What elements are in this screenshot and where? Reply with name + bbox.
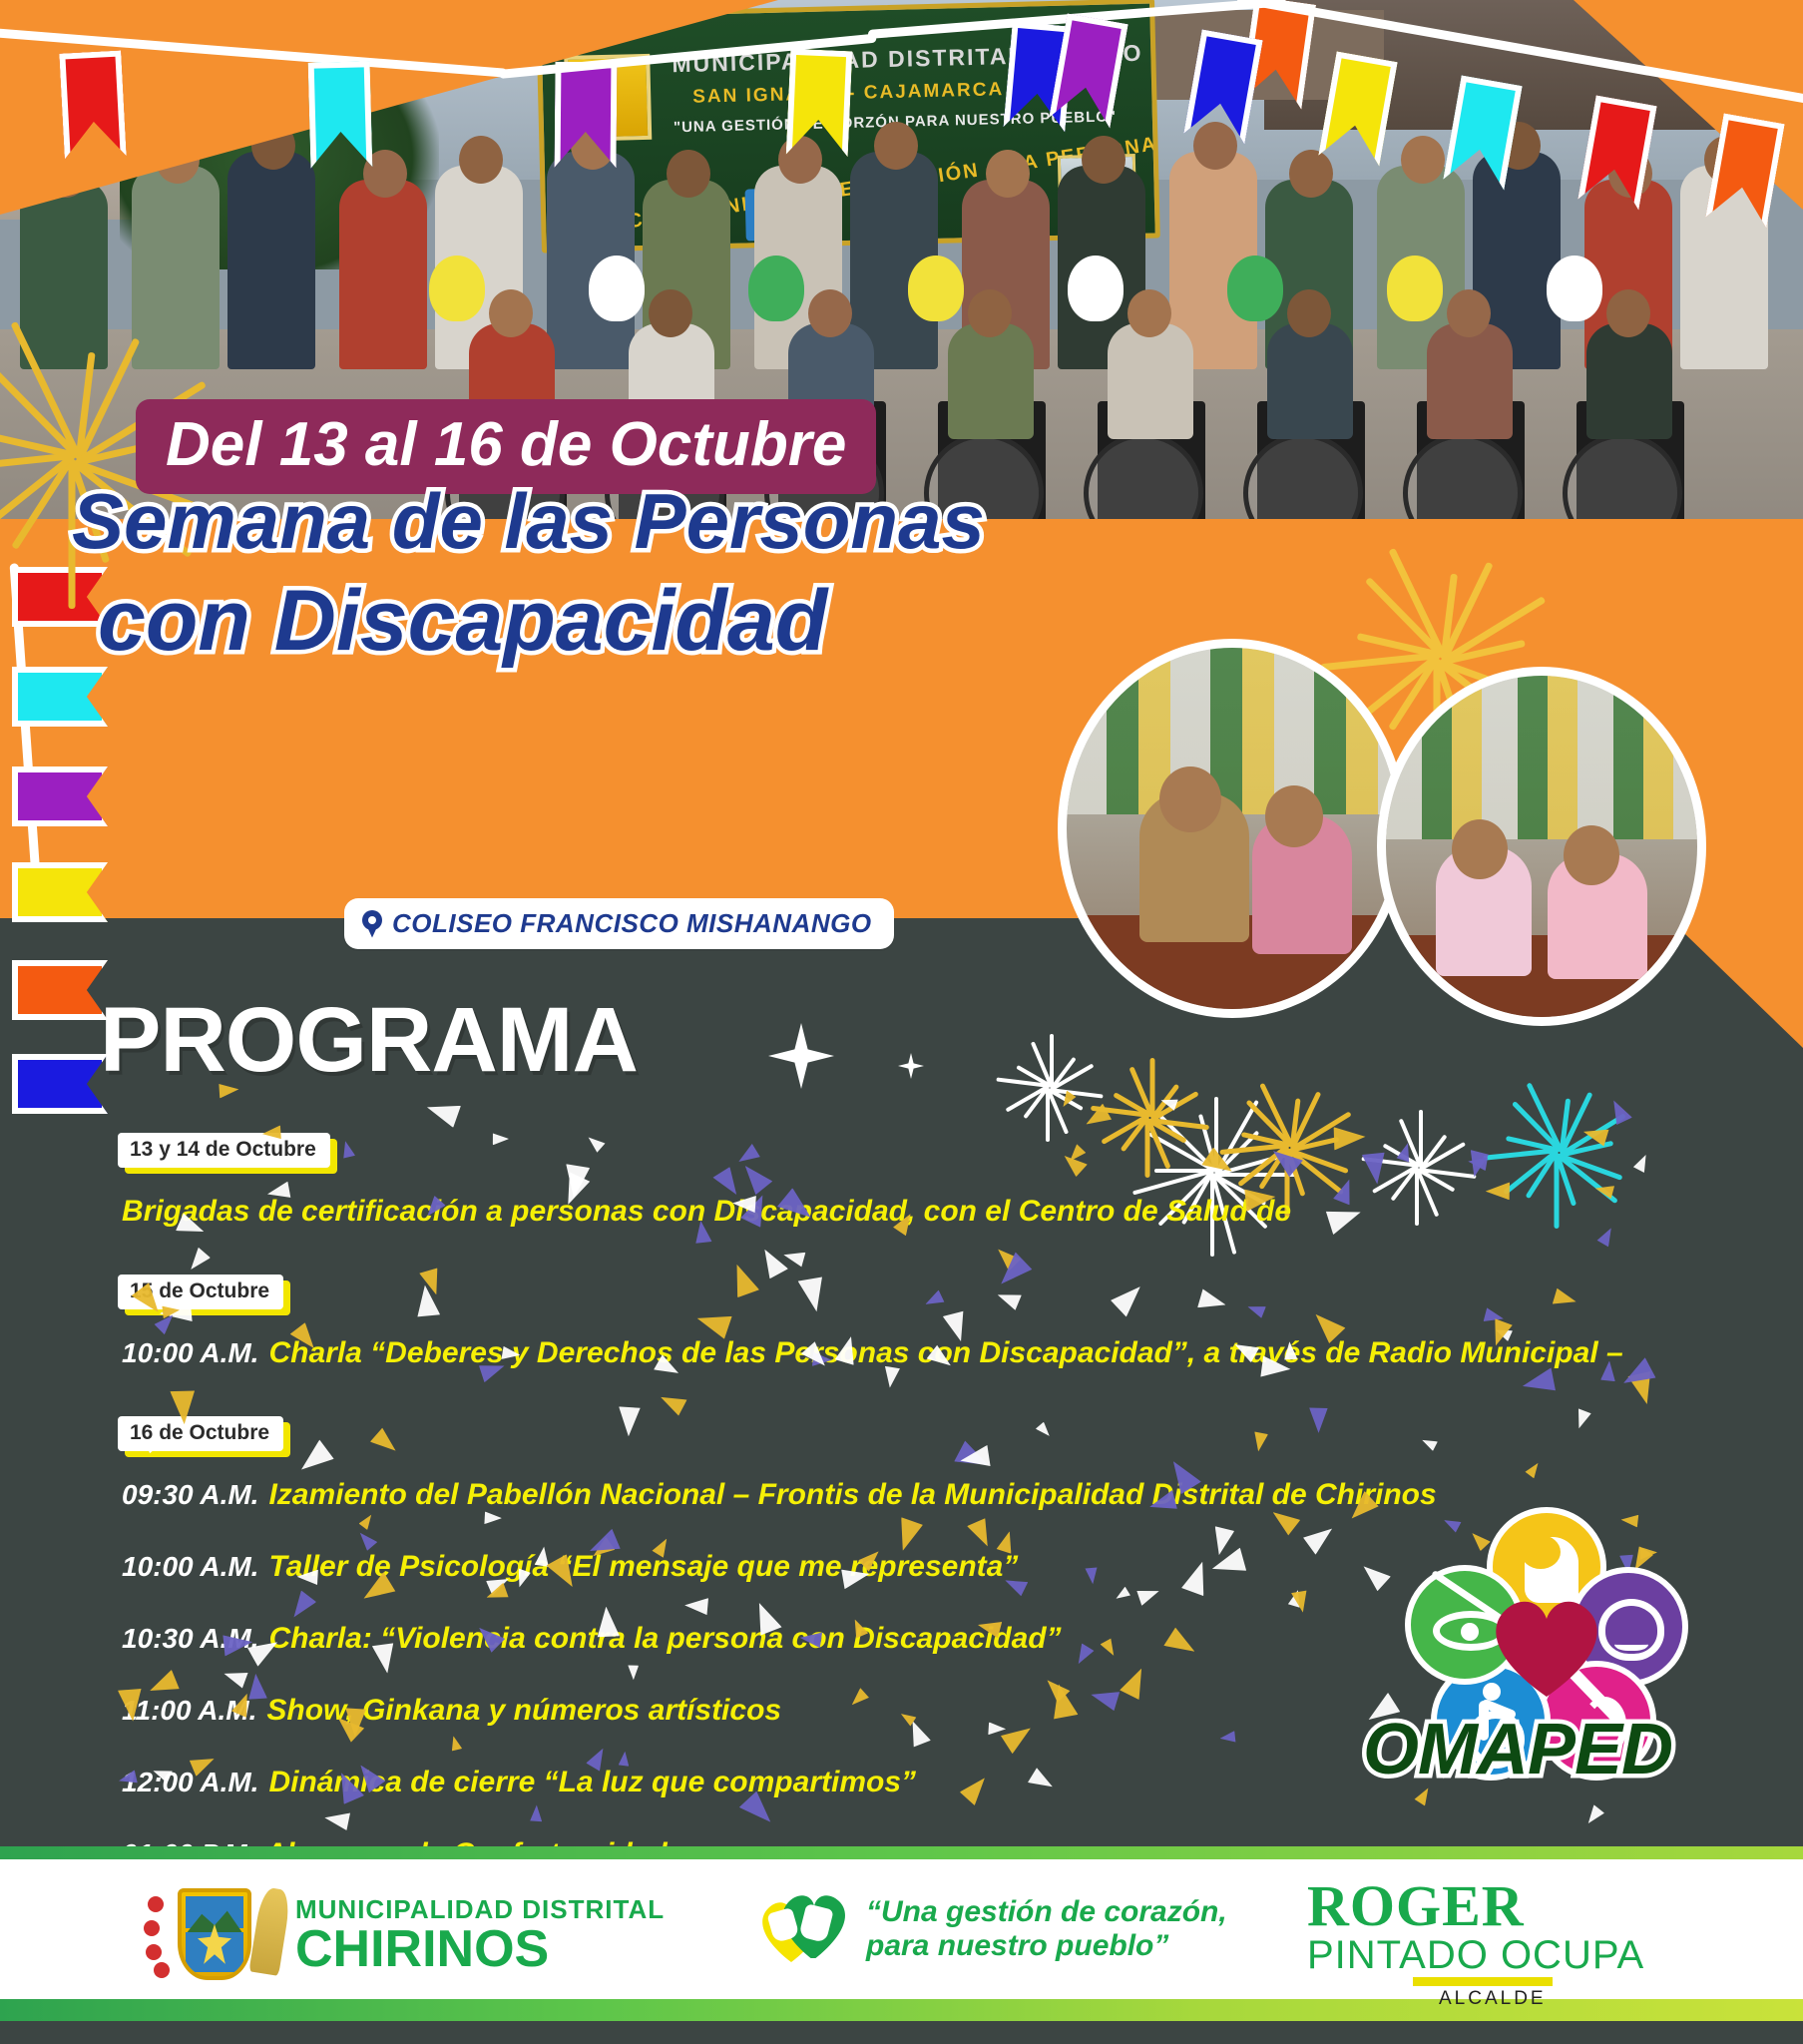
sparkle-icon [898, 1053, 924, 1079]
page-title-line2: con Discapacidad [98, 577, 996, 666]
program-item-time: 12:00 A.M. [122, 1767, 258, 1798]
bunting-flag [12, 667, 108, 727]
confetti-piece [737, 1144, 763, 1171]
confetti-piece [996, 1291, 1022, 1310]
confetti-piece [628, 1663, 642, 1681]
bunting-flag [12, 766, 108, 826]
poster-root: MUNICIPALIDAD DISTRITAL CHIRINOS SAN IGN… [0, 0, 1803, 2044]
balloon [429, 255, 485, 321]
confetti-piece [1197, 1288, 1226, 1307]
mayor-first-name: ROGER [1307, 1878, 1644, 1935]
confetti-piece [901, 1719, 931, 1751]
confetti-piece [722, 1263, 760, 1302]
mayor-underline [1413, 1977, 1553, 1986]
program-item-time: 10:00 A.M. [122, 1337, 258, 1369]
wreath-icon [142, 1894, 176, 1974]
confetti-piece [189, 1247, 213, 1275]
program-item-description: Brigadas de certificación a personas con… [122, 1195, 1291, 1229]
balloon [1068, 255, 1124, 321]
page-title-line1: Semana de las Personas [72, 481, 970, 562]
person-head [156, 136, 200, 184]
program-item-time: 09:30 A.M. [122, 1479, 258, 1511]
wheat-icon [248, 1886, 291, 1976]
confetti-piece [1577, 1409, 1591, 1430]
confetti-piece [997, 1717, 1034, 1754]
confetti-piece [798, 1272, 835, 1313]
confetti-piece [1115, 1587, 1132, 1605]
program-item: 09:30 A.M.Izamiento del Pabellón Naciona… [122, 1478, 1437, 1512]
bunting-flag [12, 960, 108, 1020]
bunting-flag [12, 1054, 108, 1114]
confetti-piece [784, 1253, 806, 1268]
sparkle-icon [768, 1023, 834, 1089]
slogan-line1: “Una gestión de corazón, [866, 1895, 1227, 1929]
confetti-piece [1254, 1430, 1269, 1451]
person-head [778, 136, 822, 184]
heart-hands-icon [756, 1884, 852, 1974]
confetti-piece [1215, 1526, 1235, 1555]
confetti-piece [924, 1289, 947, 1311]
person-head [874, 122, 918, 170]
person-head [459, 136, 503, 184]
program-item-time: 10:00 A.M. [122, 1551, 258, 1583]
confetti-piece [1086, 1564, 1103, 1584]
bunting-flag [12, 862, 108, 922]
confetti-piece [337, 1140, 355, 1161]
confetti-piece [1553, 1287, 1577, 1303]
confetti-piece [224, 1671, 248, 1689]
program-item: 12:00 A.M.Dinámica de cierre “La luz que… [122, 1766, 916, 1799]
omaped-logo: OMAPED [1387, 1507, 1706, 1787]
person-head [1287, 289, 1331, 337]
confetti-piece [585, 1136, 606, 1155]
confetti-piece [1028, 1767, 1057, 1789]
confetti-piece [1524, 1460, 1540, 1479]
confetti-piece [1421, 1439, 1438, 1452]
seated-person [1427, 323, 1513, 439]
confetti-piece [1163, 1626, 1199, 1655]
confetti-piece [1219, 1732, 1238, 1748]
municipality-line2: CHIRINOS [295, 1925, 665, 1974]
confetti-piece [527, 1804, 542, 1823]
wheelchair-wheel [1563, 433, 1682, 553]
person-head [1401, 136, 1445, 184]
confetti-piece [1309, 1404, 1333, 1434]
confetti-piece [1209, 1548, 1251, 1586]
confetti-piece [1101, 1636, 1122, 1657]
venue-badge: COLISEO FRANCISCO MISHANANGO [344, 898, 894, 949]
confetti-piece [958, 1772, 989, 1806]
person-head [1193, 122, 1237, 170]
municipality-logo: MUNICIPALIDAD DISTRITAL CHIRINOS [178, 1888, 665, 1980]
program-item: Brigadas de certificación a personas con… [122, 1195, 1291, 1229]
confetti-piece [1041, 1683, 1078, 1726]
confetti-piece [850, 1688, 871, 1711]
confetti-piece [1267, 1509, 1300, 1537]
person-head [1082, 136, 1126, 184]
program-item: 11:00 A.M.Show, Ginkana y números artíst… [122, 1694, 781, 1728]
venue-label: COLISEO FRANCISCO MISHANANGO [392, 908, 872, 939]
balloon [589, 255, 645, 321]
mayor-last-name: PINTADO OCUPA [1307, 1935, 1644, 1975]
balloon [908, 255, 964, 321]
confetti-piece [1036, 1420, 1055, 1437]
person-head [1606, 289, 1650, 337]
confetti-piece [1180, 1560, 1206, 1596]
confetti-piece [1485, 1183, 1514, 1206]
balloon [1387, 255, 1443, 321]
circle-photo-1 [1058, 639, 1407, 1018]
wheelchair-wheel [1403, 433, 1523, 553]
confetti-piece [1632, 1153, 1647, 1173]
program-item-description: Izamiento del Pabellón Nacional – Fronti… [268, 1478, 1436, 1512]
mayor-role: ALCALDE [1439, 1988, 1644, 2010]
bunting-flag [12, 567, 108, 627]
confetti-piece [753, 1247, 789, 1282]
balloon [748, 255, 804, 321]
program-day-badge: 13 y 14 de Octubre [118, 1133, 330, 1168]
program-item: 10:00 A.M.Charla “Deberes y Derechos de … [122, 1336, 1623, 1370]
balloon [1227, 255, 1283, 321]
confetti-piece [1586, 1804, 1606, 1827]
person-head [251, 122, 295, 170]
confetti-piece [1108, 1277, 1143, 1316]
confetti-piece [298, 1440, 338, 1482]
confetti-piece [324, 1813, 351, 1832]
circle-photo-2 [1377, 667, 1706, 1026]
person-head [667, 150, 710, 198]
confetti-piece [370, 1426, 402, 1454]
confetti-piece [684, 1598, 711, 1619]
page-section-title: PROGRAMA [100, 988, 638, 1093]
confetti-piece [658, 1394, 686, 1417]
person [339, 180, 427, 369]
person-head [1127, 289, 1171, 337]
confetti-piece [620, 1402, 647, 1437]
confetti-piece [1332, 1178, 1352, 1205]
seated-person [1108, 323, 1193, 439]
slogan-line2: para nuestro pueblo” [866, 1929, 1227, 1963]
confetti-piece [446, 1735, 462, 1753]
confetti-piece [1300, 1518, 1335, 1555]
seated-person [1267, 323, 1353, 439]
confetti-piece [1133, 1580, 1160, 1605]
person-head [489, 289, 533, 337]
location-pin-icon [362, 910, 382, 938]
slogan-logo: “Una gestión de corazón, para nuestro pu… [756, 1884, 1227, 1974]
confetti-piece [1595, 1226, 1612, 1248]
chirinos-crest-icon [178, 1888, 251, 1980]
confetti-piece [291, 1591, 319, 1624]
confetti-piece [426, 1103, 461, 1128]
wheelchair-wheel [1084, 433, 1203, 553]
person-head [986, 150, 1030, 198]
program-item-description: Charla “Deberes y Derechos de las Person… [268, 1336, 1622, 1370]
seated-person [1586, 323, 1672, 439]
confetti-piece [358, 1512, 373, 1530]
person [227, 152, 315, 369]
confetti-piece [898, 1517, 923, 1552]
confetti-piece [1521, 1368, 1561, 1403]
confetti-piece [489, 1129, 509, 1145]
program-day-badge: 16 de Octubre [118, 1416, 283, 1451]
person [132, 166, 220, 369]
mayor-logo: ROGER PINTADO OCUPA ALCALDE [1307, 1878, 1644, 2010]
confetti-piece [986, 1719, 1007, 1735]
confetti-piece [1246, 1304, 1265, 1318]
confetti-piece [1120, 1665, 1146, 1700]
omaped-wordmark: OMAPED [1363, 1709, 1672, 1790]
confetti-piece [1483, 1307, 1503, 1321]
seated-person [948, 323, 1034, 439]
footer-top-divider [0, 1846, 1803, 1859]
person-head [968, 289, 1012, 337]
person [20, 180, 108, 369]
wheelchair-wheel [1243, 433, 1363, 553]
confetti-piece [1077, 1643, 1096, 1667]
balloon [1547, 255, 1602, 321]
confetti-piece [1091, 1692, 1120, 1712]
person-head [808, 289, 852, 337]
person-head [1289, 150, 1333, 198]
person-head [1447, 289, 1491, 337]
confetti-piece [695, 1313, 731, 1338]
confetti-piece [712, 1163, 747, 1197]
confetti-piece [967, 1514, 1000, 1548]
person-head [649, 289, 692, 337]
confetti-piece [1320, 1197, 1362, 1236]
confetti-piece [734, 1163, 772, 1198]
